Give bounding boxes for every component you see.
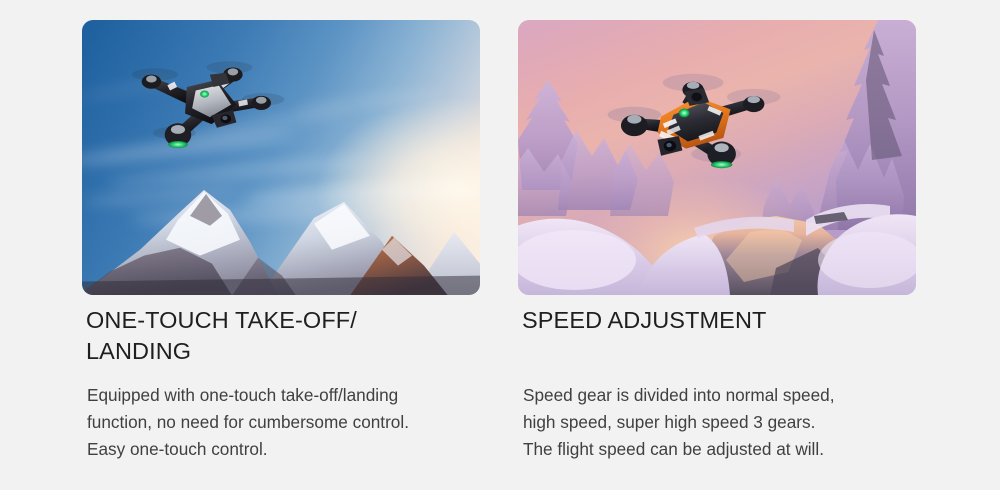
- feature-body: Equipped with one-touch take-off/landing…: [87, 382, 487, 463]
- drone-over-winter-stream-photo: [518, 20, 916, 295]
- feature-heading: SPEED ADJUSTMENT: [522, 305, 916, 336]
- feature-body: Speed gear is divided into normal speed,…: [523, 382, 923, 463]
- feature-speed-adjustment: SPEED ADJUSTMENT Speed gear is divided i…: [518, 0, 916, 490]
- mountain-range: [82, 180, 480, 296]
- product-feature-banner: ONE-TOUCH TAKE-OFF/ LANDING Equipped wit…: [0, 0, 1000, 490]
- black-drone: [112, 48, 290, 172]
- feature-one-touch-take-off-landing: ONE-TOUCH TAKE-OFF/ LANDING Equipped wit…: [82, 0, 480, 490]
- orange-drone: [588, 54, 784, 188]
- feature-heading: ONE-TOUCH TAKE-OFF/ LANDING: [86, 305, 480, 368]
- drone-over-mountains-photo: [82, 20, 480, 295]
